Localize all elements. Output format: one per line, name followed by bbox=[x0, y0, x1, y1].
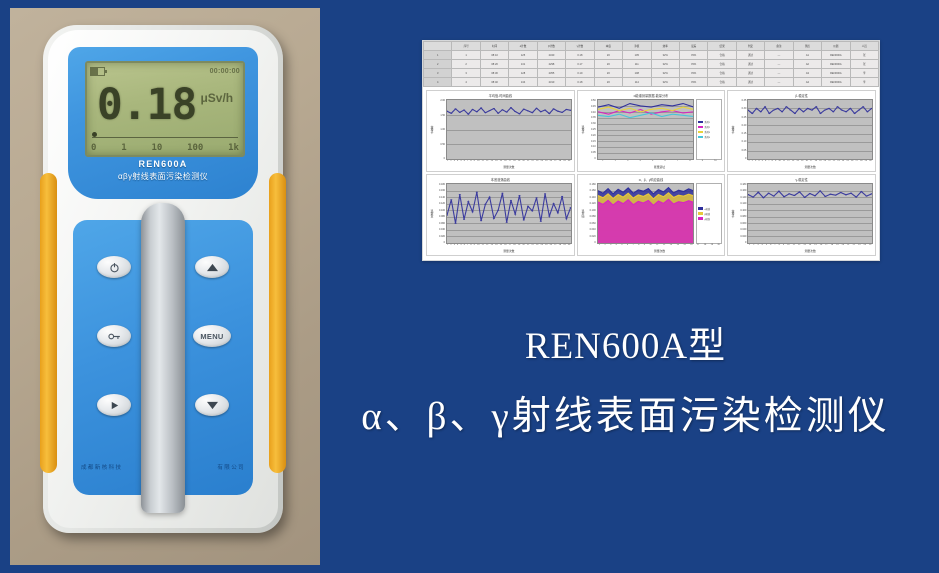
chart-data-point bbox=[819, 190, 821, 191]
chart-legend-item: β射线 bbox=[698, 212, 720, 216]
chart-y-axis-label: 计数率 bbox=[730, 99, 736, 160]
table-cell: REN600A bbox=[822, 78, 850, 87]
chart-y-tick: 0.080 bbox=[435, 215, 445, 218]
product-photo: 00:00:00 0.18 μSv/h 0 1 10 100 1k REN600… bbox=[10, 8, 320, 565]
chart-series-svg bbox=[447, 100, 571, 159]
chart-y-tick: 0.30 bbox=[736, 107, 746, 110]
device-footer-right: 有限公司 bbox=[217, 463, 245, 471]
chart-x-axis-label: 能量道址 bbox=[580, 165, 723, 170]
chart-background-scatter[interactable]: 本底涨落曲线本底值0.1800.1600.1400.1200.1000.0800… bbox=[426, 174, 575, 256]
chart-data-point bbox=[814, 195, 816, 196]
chart-data-point bbox=[480, 220, 482, 221]
chart-data-point bbox=[557, 212, 559, 213]
chart-data-point bbox=[783, 196, 785, 197]
play-button[interactable] bbox=[97, 394, 131, 416]
chart-data-point bbox=[523, 220, 525, 221]
table-cell: 通过 bbox=[736, 60, 764, 69]
product-model-title: REN600A型 bbox=[318, 315, 933, 369]
chart-alpha-stability[interactable]: 平均值-时间曲线计数率2.001.501.000.500123456789101… bbox=[426, 90, 575, 172]
battery-icon bbox=[90, 67, 105, 76]
chart-data-point bbox=[531, 210, 533, 211]
chart-legend-swatch bbox=[698, 207, 703, 210]
chart-plot-area bbox=[747, 183, 873, 244]
table-cell: — bbox=[765, 78, 793, 87]
chart-gridline bbox=[447, 159, 571, 160]
device-grip-right bbox=[269, 173, 286, 473]
chart-data-point bbox=[828, 108, 830, 109]
chart-y-tick: 0.040 bbox=[586, 228, 596, 231]
chart-plot-area bbox=[446, 99, 572, 160]
table-column-header: 序号 bbox=[452, 42, 480, 51]
chart-data-point bbox=[850, 108, 852, 109]
chart-data-point bbox=[493, 108, 495, 109]
chart-data-point bbox=[510, 200, 512, 201]
chart-data-point bbox=[561, 196, 563, 197]
table-body: 1108:1012523400.182010532%±5%合格通过—A1REN6… bbox=[424, 51, 879, 87]
chart-area-series bbox=[598, 199, 694, 243]
chart-data-point bbox=[484, 204, 486, 205]
chart-line-series bbox=[598, 113, 694, 118]
chart-data-point bbox=[463, 219, 465, 220]
chart-data-point bbox=[527, 206, 529, 207]
table-cell: 131 bbox=[509, 60, 537, 69]
chart-y-tick: 0.060 bbox=[435, 222, 445, 225]
chart-plot-area bbox=[597, 183, 695, 244]
chart-y-ticks: 2.001.501.000.500 bbox=[435, 99, 446, 160]
device-upper-panel: 00:00:00 0.18 μSv/h 0 1 10 100 1k REN600… bbox=[68, 47, 258, 199]
chart-legend-item: 系列3 bbox=[698, 130, 720, 134]
play-icon bbox=[109, 400, 120, 411]
chart-data-point bbox=[557, 111, 559, 112]
table-cell: ±5% bbox=[679, 78, 707, 87]
chart-data-point bbox=[807, 108, 809, 109]
chart-y-tick: 0.15 bbox=[736, 132, 746, 135]
chart-data-point bbox=[788, 193, 790, 194]
chart-y-tick: 0.100 bbox=[586, 209, 596, 212]
chart-legend-swatch bbox=[698, 217, 703, 220]
table-corner bbox=[424, 42, 452, 51]
chart-data-point bbox=[778, 191, 780, 192]
chart-legend-label: 系列1 bbox=[704, 120, 710, 124]
chart-data-point bbox=[841, 110, 843, 111]
table-cell: 合格 bbox=[708, 51, 736, 60]
chart-data-point bbox=[489, 110, 491, 111]
chart-y-tick: 0.35 bbox=[586, 116, 596, 119]
table-row[interactable]: 4408:4013423100.182011432%±5%合格通过—A4REN6… bbox=[424, 78, 879, 87]
down-arrow-icon bbox=[206, 400, 219, 411]
chart-y-tick: 0.080 bbox=[586, 215, 596, 218]
table-cell: 111 bbox=[623, 60, 651, 69]
chart-data-point bbox=[854, 113, 856, 114]
chart-data-point bbox=[862, 106, 864, 107]
chart-data-point bbox=[459, 194, 461, 195]
power-button[interactable] bbox=[97, 256, 131, 278]
chart-data-point bbox=[855, 197, 857, 198]
chart-data-point bbox=[845, 111, 847, 112]
table-cell: 2340 bbox=[537, 51, 565, 60]
table-cell: 20 bbox=[594, 60, 622, 69]
chart-y-ticks: 0.1800.1600.1400.1200.1000.0800.0600.040… bbox=[736, 183, 747, 244]
chart-y-tick: 0.120 bbox=[586, 202, 596, 205]
table-column-header: 测点 bbox=[793, 42, 821, 51]
table-cell: 通过 bbox=[736, 78, 764, 87]
table-cell: A2 bbox=[793, 60, 821, 69]
table-row[interactable]: 1108:1012523400.182010532%±5%合格通过—A1REN6… bbox=[424, 51, 879, 60]
chart-y-ticks: 0.350.300.250.200.150.100.050 bbox=[736, 99, 747, 160]
chart-y-tick: 1.00 bbox=[435, 128, 445, 131]
chart-line-series bbox=[447, 192, 571, 223]
chart-data-point bbox=[803, 111, 805, 112]
chart-x-axis-label: 测量次数 bbox=[580, 249, 723, 254]
chart-y-tick: 0.180 bbox=[736, 183, 746, 186]
lcd-unit: μSv/h bbox=[200, 91, 233, 105]
chart-y-tick: 0.10 bbox=[586, 145, 596, 148]
chart-y-tick: 0.140 bbox=[736, 196, 746, 199]
lcd-value: 0.18 bbox=[97, 84, 197, 127]
table-column-header: 误差 bbox=[679, 42, 707, 51]
chart-data-point bbox=[480, 107, 482, 108]
chart-data-point bbox=[450, 113, 452, 114]
menu-button-label: MENU bbox=[200, 332, 223, 341]
device-model-label: REN600A bbox=[68, 159, 258, 169]
chart-data-point bbox=[833, 111, 835, 112]
table-cell: 08:40 bbox=[480, 78, 508, 87]
chart-plot-area bbox=[597, 99, 695, 160]
table-cell: 08:30 bbox=[480, 69, 508, 78]
chart-data-point bbox=[459, 112, 461, 113]
table-cell: 32% bbox=[651, 60, 679, 69]
table-column-header: γ计数 bbox=[566, 42, 594, 51]
chart-gridline bbox=[748, 243, 872, 244]
chart-data-point bbox=[798, 108, 800, 109]
chart-line-series bbox=[748, 191, 872, 198]
table-column-header: 效率 bbox=[651, 42, 679, 51]
table-cell: 134 bbox=[509, 78, 537, 87]
chart-y-axis-label: 计数值 bbox=[580, 99, 586, 160]
chart-y-tick: 0.20 bbox=[736, 124, 746, 127]
chart-data-point bbox=[497, 210, 499, 211]
table-cell: REN600A bbox=[822, 60, 850, 69]
chart-data-point bbox=[552, 108, 554, 109]
up-arrow-icon bbox=[206, 262, 219, 273]
chart-data-point bbox=[484, 112, 486, 113]
chart-legend-item: γ射线 bbox=[698, 217, 720, 221]
table-row-header: 3 bbox=[424, 69, 452, 78]
table-cell: 0.18 bbox=[566, 51, 594, 60]
table-column-header: β计数 bbox=[537, 42, 565, 51]
chart-data-point bbox=[752, 197, 754, 198]
chart-x-axis-label: 测量次数 bbox=[730, 249, 873, 254]
chart-data-point bbox=[514, 111, 516, 112]
lcd-bargraph bbox=[92, 133, 238, 138]
chart-data-point bbox=[763, 197, 765, 198]
chart-data-point bbox=[561, 112, 563, 113]
table-cell: 0.18 bbox=[566, 78, 594, 87]
chart-plot-area bbox=[446, 183, 572, 244]
chart-data-point bbox=[820, 113, 822, 114]
chart-data-point bbox=[463, 109, 465, 110]
chart-legend: α射线β射线γ射线 bbox=[696, 183, 722, 244]
chart-y-axis-label: 响应值 bbox=[580, 183, 586, 244]
chart-line-series bbox=[748, 107, 872, 114]
chart-y-tick: 0.020 bbox=[736, 235, 746, 238]
chart-y-tick: 0.160 bbox=[586, 189, 596, 192]
chart-data-point bbox=[769, 113, 771, 114]
chart-y-tick: 0.10 bbox=[736, 140, 746, 143]
chart-y-tick: 0.040 bbox=[435, 228, 445, 231]
chart-data-point bbox=[450, 199, 452, 200]
chart-data-point bbox=[773, 196, 775, 197]
chart-plot-area bbox=[747, 99, 873, 160]
chart-data-point bbox=[454, 223, 456, 224]
table-row[interactable]: 3308:3012823550.192010832%±5%合格通过—A3REN6… bbox=[424, 69, 879, 78]
chart-gridline bbox=[598, 243, 694, 244]
chart-y-tick: 0.020 bbox=[435, 235, 445, 238]
table-cell: — bbox=[765, 60, 793, 69]
chart-data-point bbox=[867, 111, 869, 112]
chart-line-series bbox=[598, 107, 694, 112]
lcd-scale-tick: 1 bbox=[121, 143, 126, 153]
chart-data-point bbox=[751, 113, 753, 114]
chart-data-point bbox=[489, 197, 491, 198]
up-button[interactable] bbox=[195, 256, 229, 278]
chart-data-point bbox=[531, 112, 533, 113]
chart-x-axis-label: 测量次数 bbox=[429, 165, 572, 170]
table-cell: 2298 bbox=[537, 60, 565, 69]
chart-y-ticks: 0.500.450.400.350.300.250.200.150.100.05… bbox=[586, 99, 597, 160]
chart-legend-label: 系列2 bbox=[704, 125, 710, 129]
chart-data-point bbox=[804, 197, 806, 198]
device-brand: REN600A αβγ射线表面污染检测仪 bbox=[68, 159, 258, 182]
chart-y-tick: 0.40 bbox=[586, 111, 596, 114]
chart-line-series bbox=[598, 104, 694, 109]
key-button[interactable] bbox=[97, 325, 131, 347]
chart-data-point bbox=[467, 114, 469, 115]
table-cell: 李 bbox=[850, 69, 878, 78]
table-cell: 125 bbox=[509, 51, 537, 60]
table-column-header: 判定 bbox=[736, 42, 764, 51]
chart-data-point bbox=[497, 113, 499, 114]
table-cell: 1 bbox=[452, 51, 480, 60]
chart-data-point bbox=[790, 110, 792, 111]
table-cell: 通过 bbox=[736, 51, 764, 60]
chart-y-tick: 0.05 bbox=[586, 151, 596, 154]
chart-data-point bbox=[471, 211, 473, 212]
table-cell: 0.19 bbox=[566, 69, 594, 78]
chart-legend-item: 系列2 bbox=[698, 125, 720, 129]
chart-data-point bbox=[777, 108, 779, 109]
chart-series-svg bbox=[748, 184, 872, 243]
lcd-reading: 0.18 μSv/h bbox=[87, 79, 243, 131]
keypad-column-left bbox=[83, 256, 145, 416]
chart-data-point bbox=[506, 222, 508, 223]
table-cell: 08:20 bbox=[480, 60, 508, 69]
table-cell: 2355 bbox=[537, 69, 565, 78]
chart-legend-label: β射线 bbox=[704, 212, 710, 216]
chart-legend-swatch bbox=[698, 131, 703, 134]
lcd-scale: 0 1 10 100 1k bbox=[91, 141, 239, 154]
table-cell: — bbox=[765, 51, 793, 60]
table-cell: 108 bbox=[623, 69, 651, 78]
lcd-status-right: 00:00:00 bbox=[210, 68, 240, 75]
chart-beta-stability[interactable]: β-稳定性计数率0.350.300.250.200.150.100.050123… bbox=[727, 90, 876, 172]
chart-gridline bbox=[598, 159, 694, 160]
chart-y-tick: 0.50 bbox=[435, 143, 445, 146]
chart-y-tick: 0.20 bbox=[586, 134, 596, 137]
chart-y-axis-label: 计数率 bbox=[429, 99, 435, 160]
chart-y-ticks: 0.1800.1600.1400.1200.1000.0800.0600.040… bbox=[435, 183, 446, 244]
lcd-scale-tick: 10 bbox=[151, 143, 162, 153]
device-hand-strap bbox=[141, 203, 185, 513]
chart-legend-label: 系列3 bbox=[704, 130, 710, 134]
chart-y-tick: 0.30 bbox=[586, 122, 596, 125]
chart-y-ticks: 0.1800.1600.1400.1200.1000.0800.0600.040… bbox=[586, 183, 597, 244]
power-icon bbox=[109, 262, 120, 273]
table-cell: 合格 bbox=[708, 69, 736, 78]
chart-y-tick: 0.25 bbox=[586, 128, 596, 131]
chart-data-point bbox=[535, 197, 537, 198]
chart-data-point bbox=[471, 109, 473, 110]
device-footer-left: 成都新核科技 bbox=[81, 463, 122, 471]
chart-legend-swatch bbox=[698, 136, 703, 139]
chart-legend-swatch bbox=[698, 212, 703, 215]
table-cell: A4 bbox=[793, 78, 821, 87]
chart-legend-item: α射线 bbox=[698, 207, 720, 211]
chart-data-point bbox=[447, 215, 448, 216]
chart-y-tick: 0.060 bbox=[586, 222, 596, 225]
table-cell: 32% bbox=[651, 51, 679, 60]
chart-legend-label: 系列4 bbox=[704, 135, 710, 139]
chart-gridline bbox=[748, 159, 872, 160]
chart-legend: 系列1系列2系列3系列4 bbox=[696, 99, 722, 160]
chart-y-tick: 0.05 bbox=[736, 149, 746, 152]
chart-data-point bbox=[760, 111, 762, 112]
chart-data-point bbox=[773, 110, 775, 111]
chart-legend-label: α射线 bbox=[704, 207, 710, 211]
table-cell: — bbox=[765, 69, 793, 78]
table-cell: 105 bbox=[623, 51, 651, 60]
table-cell: 20 bbox=[594, 51, 622, 60]
chart-data-point bbox=[467, 201, 469, 202]
down-button[interactable] bbox=[195, 394, 229, 416]
software-screenshot-panel: 序号时间α计数β计数γ计数本底净值效率误差结果判定备注测点仪器人员 1108:1… bbox=[422, 40, 880, 261]
chart-gamma-stability[interactable]: γ-稳定性计数率0.1800.1600.1400.1200.1000.0800.… bbox=[727, 174, 876, 256]
table-cell: ±5% bbox=[679, 69, 707, 78]
chart-legend-label: γ射线 bbox=[704, 217, 709, 221]
table-cell: 32% bbox=[651, 78, 679, 87]
chart-data-point bbox=[866, 196, 868, 197]
chart-y-tick: 0.100 bbox=[736, 209, 746, 212]
table-column-header: 时间 bbox=[480, 42, 508, 51]
device-grip-left bbox=[40, 173, 57, 473]
chart-stacked-response[interactable]: α、β、γ响应曲线响应值0.1800.1600.1400.1200.1000.0… bbox=[577, 174, 726, 256]
table-cell: 3 bbox=[452, 69, 480, 78]
chart-y-tick: 1.50 bbox=[435, 114, 445, 117]
chart-y-tick: 0.50 bbox=[586, 99, 596, 102]
chart-y-tick: 0.020 bbox=[586, 235, 596, 238]
device-description-label: αβγ射线表面污染检测仪 bbox=[68, 171, 258, 182]
chart-data-point bbox=[786, 106, 788, 107]
chart-data-point bbox=[845, 194, 847, 195]
chart-x-axis-label: 测量次数 bbox=[730, 165, 873, 170]
table-cell: 2 bbox=[452, 60, 480, 69]
title-block: REN600A型 α、β、γ射线表面污染检测仪 bbox=[318, 315, 933, 441]
table-cell: 张 bbox=[850, 60, 878, 69]
chart-data-point bbox=[454, 108, 456, 109]
chart-multi-energy[interactable]: α能谱测量数据-能量分布计数值0.500.450.400.350.300.250… bbox=[577, 90, 726, 172]
chart-data-point bbox=[523, 109, 525, 110]
chart-y-tick: 0.120 bbox=[736, 202, 746, 205]
menu-button[interactable]: MENU bbox=[193, 325, 231, 347]
table-column-header: 人员 bbox=[850, 42, 878, 51]
chart-data-point bbox=[861, 191, 863, 192]
chart-data-point bbox=[518, 195, 520, 196]
keypad-column-right: MENU bbox=[181, 256, 243, 416]
chart-data-point bbox=[794, 195, 796, 196]
chart-data-point bbox=[565, 109, 567, 110]
chart-data-point bbox=[758, 192, 760, 193]
table-cell: ±5% bbox=[679, 51, 707, 60]
chart-y-tick: 0.040 bbox=[736, 228, 746, 231]
chart-data-point bbox=[570, 207, 571, 208]
chart-grid: 平均值-时间曲线计数率2.001.501.000.500123456789101… bbox=[423, 87, 879, 259]
table-header-row: 序号时间α计数β计数γ计数本底净值效率误差结果判定备注测点仪器人员 bbox=[424, 42, 879, 51]
chart-data-point bbox=[493, 218, 495, 219]
chart-data-point bbox=[514, 214, 516, 215]
chart-data-point bbox=[809, 193, 811, 194]
chart-y-tick: 0.120 bbox=[435, 202, 445, 205]
chart-y-axis-label: 计数率 bbox=[730, 183, 736, 244]
chart-data-point bbox=[824, 110, 826, 111]
table-cell: 08:10 bbox=[480, 51, 508, 60]
chart-gridline bbox=[447, 243, 571, 244]
chart-y-tick: 0.45 bbox=[586, 105, 596, 108]
lcd-scale-tick: 100 bbox=[187, 143, 203, 153]
chart-data-point bbox=[476, 192, 478, 193]
chart-y-tick: 0.160 bbox=[435, 189, 445, 192]
chart-data-point bbox=[527, 110, 529, 111]
table-cell: 20 bbox=[594, 78, 622, 87]
chart-data-point bbox=[535, 108, 537, 109]
chart-data-point bbox=[548, 113, 550, 114]
chart-y-tick: 0.060 bbox=[736, 222, 746, 225]
table-row[interactable]: 2208:2013122980.172011132%±5%合格通过—A2REN6… bbox=[424, 60, 879, 69]
chart-y-tick: 0.25 bbox=[736, 116, 746, 119]
chart-series-svg bbox=[748, 100, 872, 159]
table-cell: ±5% bbox=[679, 60, 707, 69]
chart-series-svg bbox=[598, 100, 694, 159]
table-column-header: 备注 bbox=[765, 42, 793, 51]
chart-data-point bbox=[815, 106, 817, 107]
chart-data-point bbox=[518, 113, 520, 114]
chart-legend-item: 系列1 bbox=[698, 120, 720, 124]
chart-y-tick: 0.080 bbox=[736, 215, 746, 218]
lcd-scale-tick: 0 bbox=[91, 143, 96, 153]
table-row-header: 2 bbox=[424, 60, 452, 69]
chart-data-point bbox=[476, 111, 478, 112]
chart-x-axis-label: 测量次数 bbox=[429, 249, 572, 254]
chart-data-point bbox=[540, 111, 542, 112]
table-cell: 合格 bbox=[708, 60, 736, 69]
table-cell: 李 bbox=[850, 78, 878, 87]
table-cell: A1 bbox=[793, 51, 821, 60]
chart-y-tick: 0.180 bbox=[435, 183, 445, 186]
table-cell: 32% bbox=[651, 69, 679, 78]
chart-data-point bbox=[501, 193, 503, 194]
chart-legend-item: 系列4 bbox=[698, 135, 720, 139]
chart-data-point bbox=[830, 194, 832, 195]
chart-data-point bbox=[825, 196, 827, 197]
